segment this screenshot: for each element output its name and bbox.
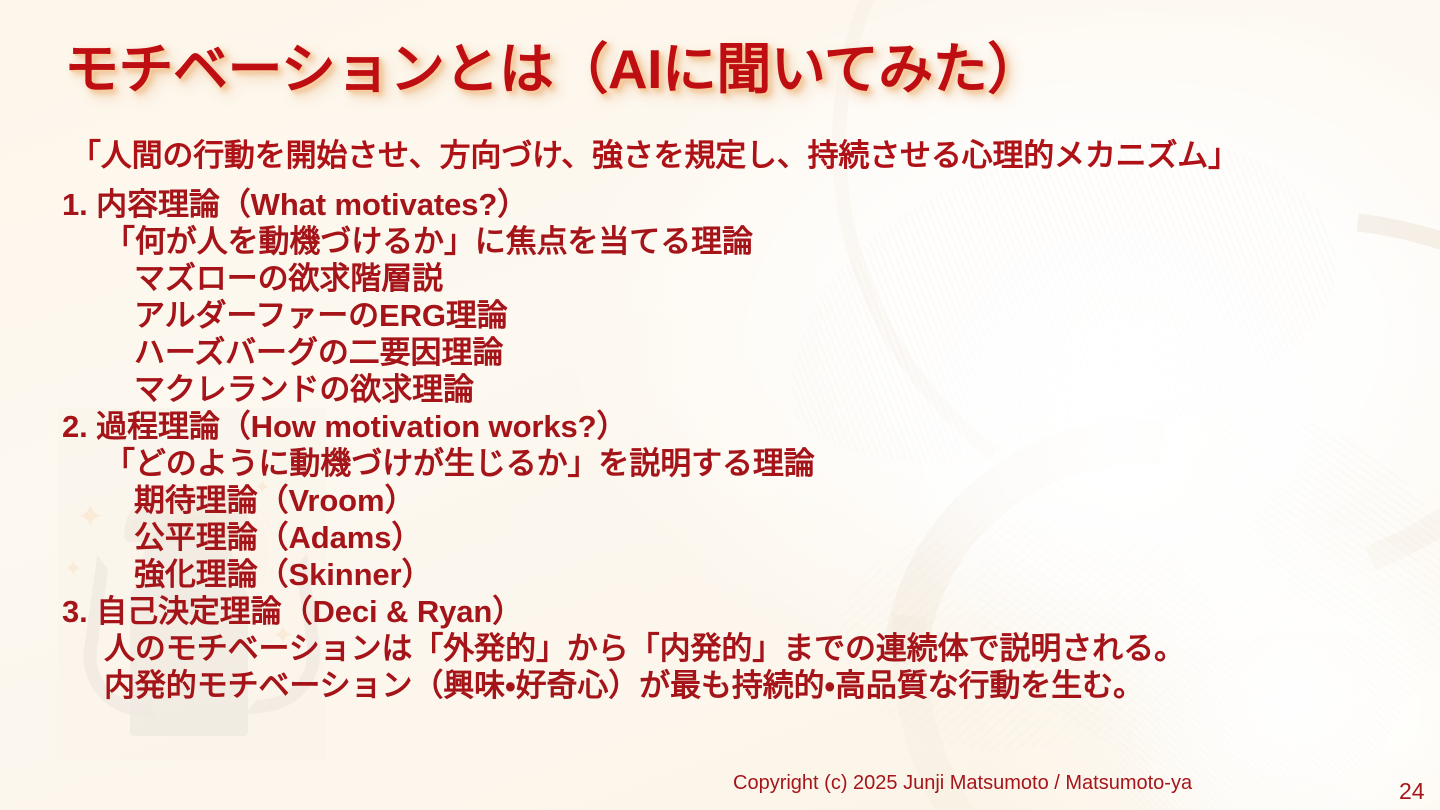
body-line: 1. 内容理論（What motivates?）: [62, 186, 1392, 223]
body-line: 3. 自己決定理論（Deci & Ryan）: [62, 593, 1392, 630]
copyright-notice: Copyright (c) 2025 Junji Matsumoto / Mat…: [733, 772, 1192, 795]
body-line: 「どのように動機づけが生じるか」を説明する理論: [62, 445, 1392, 482]
body-line: 公平理論（Adams）: [62, 519, 1392, 556]
slide-canvas: ✦ ✦ ✦ ✦ モチベーションとは（AIに聞いてみた） 「人間の行動を開始させ、…: [0, 0, 1440, 810]
body-line: ハーズバーグの二要因理論: [62, 334, 1392, 371]
slide-title: モチベーションとは（AIに聞いてみた）: [64, 24, 1042, 104]
page-number: 24: [1399, 778, 1425, 805]
body-line: マズローの欲求階層説: [62, 260, 1392, 297]
body-line: 期待理論（Vroom）: [62, 482, 1392, 519]
body-line: 強化理論（Skinner）: [62, 556, 1392, 593]
body-line: マクレランドの欲求理論: [62, 371, 1392, 408]
slide-subtitle: 「人間の行動を開始させ、方向づけ、強さを規定し、持続させる心理的メカニズム」: [70, 130, 1239, 175]
body-line: 人のモチベーションは「外発的」から「内発的」までの連続体で説明される。: [62, 630, 1392, 667]
body-line: 2. 過程理論（How motivation works?）: [62, 408, 1392, 445]
body-line: 内発的モチベーション（興味・好奇心）が最も持続的・高品質な行動を生む。: [62, 667, 1392, 704]
slide-content: モチベーションとは（AIに聞いてみた） 「人間の行動を開始させ、方向づけ、強さを…: [0, 0, 1440, 810]
body-line: 「何が人を動機づけるか」に焦点を当てる理論: [62, 223, 1392, 260]
body-text-list: 1. 内容理論（What motivates?）「何が人を動機づけるか」に焦点を…: [62, 186, 1392, 704]
body-line: アルダーファーのERG理論: [62, 297, 1392, 334]
